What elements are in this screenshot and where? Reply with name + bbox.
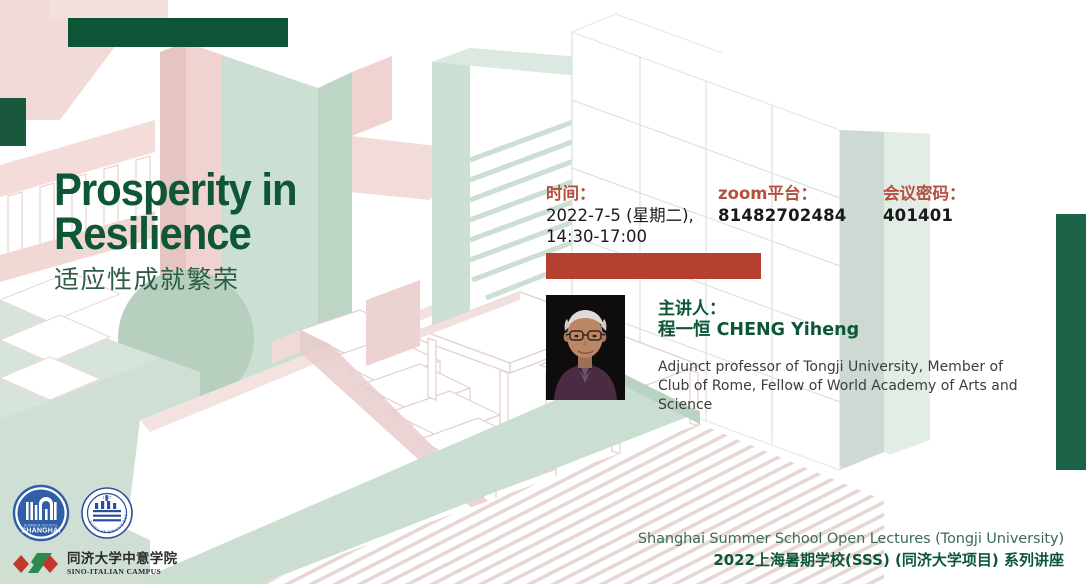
decorative-green-square-left bbox=[0, 98, 26, 146]
poster-title-en: Prosperity in Resilience bbox=[54, 168, 454, 255]
info-passcode-label: 会议密码： bbox=[883, 180, 1043, 204]
sino-italian-campus-text: 同济大学中意学院 SINO-ITALIAN CAMPUS bbox=[67, 552, 177, 575]
info-zoom-id: zoom平台： 81482702484 bbox=[718, 180, 883, 227]
logo-row-institutions: SUMMER SCHOOL SHANGHAI bbox=[12, 484, 177, 542]
speaker-role-label: 主讲人： bbox=[658, 299, 1038, 320]
footer-line-en: Shanghai Summer School Open Lectures (To… bbox=[638, 531, 1064, 547]
info-time-value: 2022-7-5 (星期二), 14:30-17:00 bbox=[546, 206, 721, 248]
title-block: Prosperity in Resilience 适应性成就繁荣 bbox=[54, 168, 484, 296]
info-time-label: 时间： bbox=[546, 180, 721, 204]
portrait-graphic bbox=[546, 295, 625, 400]
footer-line-zh: 2022上海暑期学校(SSS) (同济大学项目) 系列讲座 bbox=[638, 549, 1064, 570]
info-passcode-value: 401401 bbox=[883, 206, 1043, 227]
decorative-green-bar-right bbox=[1056, 214, 1086, 470]
decorative-red-bar bbox=[546, 253, 761, 279]
speaker-name: 程一恒 CHENG Yiheng bbox=[658, 320, 1038, 342]
info-zoom-value: 81482702484 bbox=[718, 206, 883, 227]
lecture-poster: Prosperity in Resilience 适应性成就繁荣 时间： 202… bbox=[0, 0, 1086, 584]
tongji-seal-year: 1907 bbox=[103, 495, 113, 500]
speaker-portrait-photo bbox=[546, 295, 625, 400]
shanghai-summer-school-logo: SUMMER SCHOOL SHANGHAI bbox=[12, 484, 70, 542]
speaker-bio: Adjunct professor of Tongji University, … bbox=[658, 358, 1030, 414]
decorative-green-bar-top bbox=[68, 18, 288, 47]
info-time: 时间： 2022-7-5 (星期二), 14:30-17:00 bbox=[546, 180, 721, 248]
info-passcode: 会议密码： 401401 bbox=[883, 180, 1043, 227]
info-zoom-label: zoom平台： bbox=[718, 180, 883, 204]
sino-italian-campus-zh: 同济大学中意学院 bbox=[67, 552, 177, 566]
logo-group: SUMMER SCHOOL SHANGHAI bbox=[12, 484, 177, 578]
poster-title-zh: 适应性成就繁荣 bbox=[54, 260, 484, 296]
sino-italian-campus-en: SINO-ITALIAN CAMPUS bbox=[67, 568, 177, 576]
speaker-info: 主讲人： 程一恒 CHENG Yiheng Adjunct professor … bbox=[658, 299, 1038, 414]
footer-series-info: Shanghai Summer School Open Lectures (To… bbox=[638, 531, 1064, 570]
sino-italian-campus-mark bbox=[12, 550, 60, 578]
sino-italian-campus-logo: 同济大学中意学院 SINO-ITALIAN CAMPUS bbox=[12, 550, 177, 578]
tongji-university-seal: TONGJI UNIVERSITY 1907 bbox=[80, 486, 134, 540]
shanghai-logo-text: SHANGHAI bbox=[22, 528, 61, 535]
